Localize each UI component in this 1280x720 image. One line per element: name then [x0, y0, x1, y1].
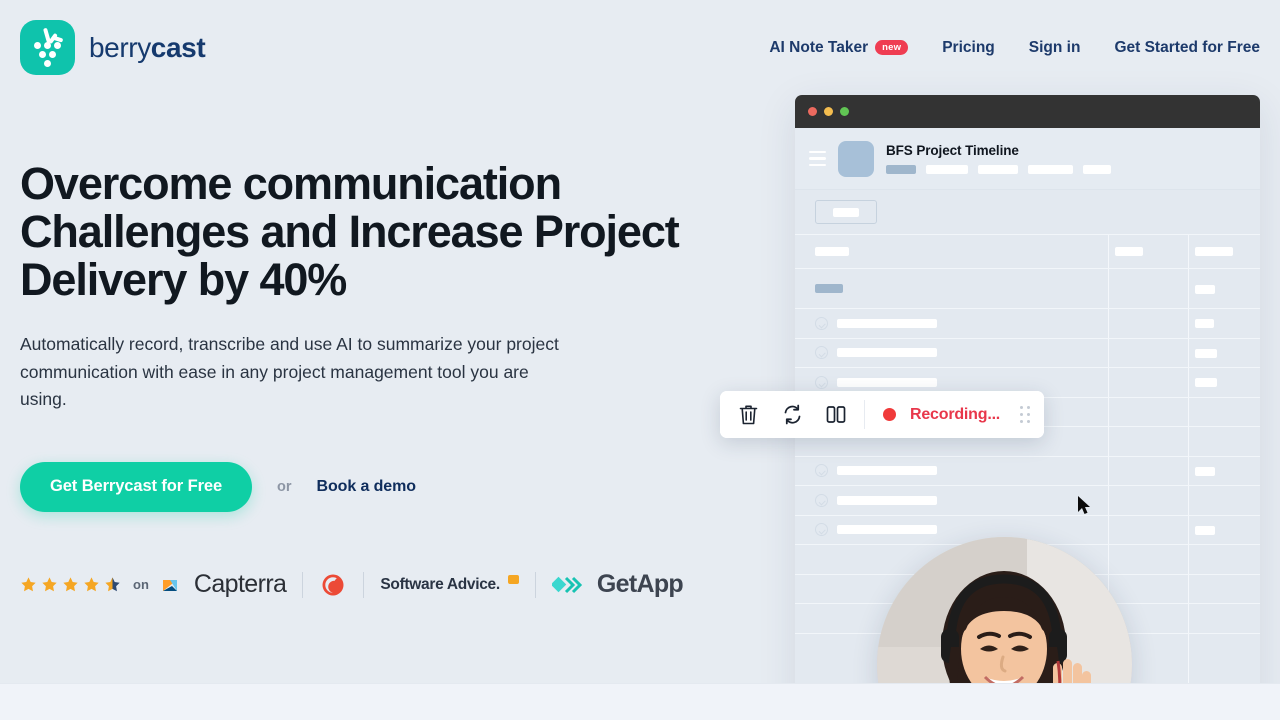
check-circle-icon: [815, 376, 828, 389]
table-row[interactable]: [795, 234, 1260, 268]
divider: [302, 572, 303, 598]
landing-page: berrycast AI Note Taker new Pricing Sign…: [0, 0, 1280, 720]
recorder-controls: [720, 391, 864, 438]
or-separator-label: or: [277, 479, 292, 495]
getapp-label: GetApp: [597, 570, 683, 599]
capterra-badge[interactable]: Capterra: [161, 570, 286, 599]
table-row[interactable]: [795, 456, 1260, 486]
svg-text:2: 2: [335, 574, 340, 583]
project-avatar: [838, 141, 874, 177]
capterra-label: Capterra: [194, 570, 286, 599]
g2-logo-icon: 2: [319, 571, 347, 599]
mouse-pointer-icon: [1078, 496, 1092, 516]
tab-chip[interactable]: [1028, 165, 1073, 174]
nav-label: AI Note Taker: [769, 39, 868, 57]
hero-content: Overcome communication Challenges and In…: [20, 160, 740, 512]
nav-item-pricing[interactable]: Pricing: [942, 39, 995, 57]
new-badge: new: [875, 40, 908, 55]
star-icon: [62, 576, 79, 593]
brand-name: berrycast: [89, 32, 205, 64]
star-rating: [20, 576, 121, 593]
brand-name-light: berry: [89, 32, 151, 63]
trash-icon[interactable]: [738, 403, 759, 426]
pause-icon[interactable]: [826, 404, 846, 425]
review-badges: on Capterra 2 Software Advice.: [20, 570, 683, 599]
check-circle-icon: [815, 494, 828, 507]
nav-item-sign-in[interactable]: Sign in: [1029, 39, 1081, 57]
next-section-strip: [0, 683, 1280, 720]
check-circle-icon: [815, 523, 828, 536]
tab-chip-active[interactable]: [886, 165, 916, 174]
check-circle-icon: [815, 464, 828, 477]
hamburger-menu-icon[interactable]: [809, 151, 826, 167]
grape-berry-icon: [20, 20, 75, 75]
divider: [535, 572, 536, 598]
main-navigation: AI Note Taker new Pricing Sign in Get St…: [769, 39, 1260, 57]
star-icon: [20, 576, 37, 593]
project-title: BFS Project Timeline: [886, 143, 1111, 158]
page-title: Overcome communication Challenges and In…: [20, 160, 740, 304]
recording-status: Recording...: [865, 391, 1044, 438]
view-select[interactable]: [815, 200, 877, 224]
check-circle-icon: [815, 317, 828, 330]
restart-loop-icon[interactable]: [781, 403, 804, 426]
recording-toolbar: Recording...: [720, 391, 1044, 438]
software-advice-badge[interactable]: Software Advice.: [380, 576, 519, 594]
recording-status-label: Recording...: [910, 406, 1000, 424]
project-meta: BFS Project Timeline: [886, 143, 1111, 174]
getapp-badge[interactable]: GetApp: [552, 570, 683, 599]
book-a-demo-link[interactable]: Book a demo: [317, 478, 416, 496]
star-icon: [83, 576, 100, 593]
on-label: on: [133, 577, 149, 592]
window-maximize-dot-icon[interactable]: [840, 107, 849, 116]
table-row[interactable]: [795, 268, 1260, 308]
hero-cta-row: Get Berrycast for Free or Book a demo: [20, 462, 740, 512]
table-row[interactable]: [795, 485, 1260, 515]
hero-subtext: Automatically record, transcribe and use…: [20, 331, 565, 414]
nav-item-ai-note-taker[interactable]: AI Note Taker new: [769, 39, 908, 57]
g2-badge[interactable]: 2: [319, 571, 347, 599]
brand-logo[interactable]: berrycast: [20, 20, 205, 75]
window-close-dot-icon[interactable]: [808, 107, 817, 116]
get-berrycast-for-free-button[interactable]: Get Berrycast for Free: [20, 462, 252, 512]
record-indicator-icon: [883, 408, 896, 421]
project-header: BFS Project Timeline: [795, 128, 1260, 190]
table-row[interactable]: [795, 308, 1260, 338]
getapp-logo-icon: [552, 574, 590, 596]
check-circle-icon: [815, 346, 828, 359]
software-advice-label: Software Advice.: [380, 576, 500, 594]
brand-name-bold: cast: [151, 32, 205, 63]
tab-chip[interactable]: [926, 165, 968, 174]
project-tabs: [886, 165, 1111, 174]
star-icon-half: [104, 576, 121, 593]
site-header: berrycast AI Note Taker new Pricing Sign…: [0, 0, 1280, 95]
software-advice-logo-icon: [508, 575, 519, 584]
table-row[interactable]: [795, 338, 1260, 368]
divider: [363, 572, 364, 598]
drag-handle-icon[interactable]: [1020, 406, 1030, 423]
tab-chip[interactable]: [1083, 165, 1111, 174]
window-titlebar: [795, 95, 1260, 128]
star-icon: [41, 576, 58, 593]
window-minimize-dot-icon[interactable]: [824, 107, 833, 116]
nav-item-get-started-for-free[interactable]: Get Started for Free: [1114, 39, 1260, 57]
mockup-toolbar: [795, 190, 1260, 234]
tab-chip[interactable]: [978, 165, 1018, 174]
capterra-logo-icon: [161, 572, 187, 598]
